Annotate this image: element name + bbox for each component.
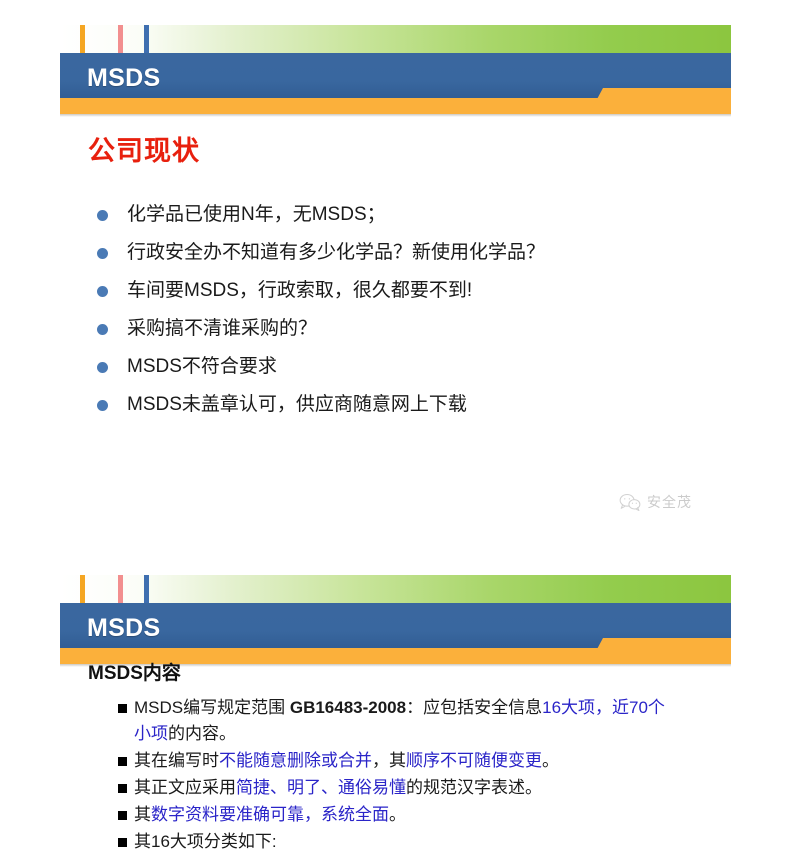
watermark-text: 安全茂	[647, 492, 692, 512]
text-run: ，其	[372, 751, 406, 770]
text-run: 。	[389, 805, 406, 824]
msds-content-list: MSDS编写规定范围 GB16483-2008：应包括安全信息16大项，近70个…	[118, 695, 673, 856]
square-bullet-icon	[118, 838, 127, 847]
list-item: 其16大项分类如下:	[118, 829, 673, 855]
slide-company-status: MSDS 公司现状 化学品已使用N年，无MSDS；行政安全办不知道有多少化学品？…	[0, 0, 801, 545]
bullet-dot-icon	[97, 324, 108, 335]
list-item: MSDS未盖章认可，供应商随意网上下载	[92, 386, 712, 424]
list-item-label: MSDS未盖章认可，供应商随意网上下载	[127, 394, 467, 415]
list-item: MSDS不符合要求	[92, 348, 712, 386]
accent-tick-blue	[144, 25, 149, 53]
accent-tick-orange	[80, 575, 85, 603]
text-run: 其正文应采用	[134, 778, 236, 797]
list-item: 行政安全办不知道有多少化学品？新使用化学品？	[92, 234, 712, 272]
watermark: 安全茂	[619, 492, 692, 512]
slide-banner: MSDS	[60, 25, 731, 114]
text-run: 不能随意删除或合并	[219, 751, 372, 770]
list-item-label: 行政安全办不知道有多少化学品？新使用化学品？	[127, 242, 545, 263]
square-bullet-icon	[118, 784, 127, 793]
list-item: MSDS编写规定范围 GB16483-2008：应包括安全信息16大项，近70个…	[118, 695, 673, 747]
text-run: 。	[542, 751, 559, 770]
list-item: 化学品已使用N年，无MSDS；	[92, 196, 712, 234]
list-item: 采购搞不清谁采购的？	[92, 310, 712, 348]
content-heading: MSDS内容	[88, 658, 181, 685]
banner-title: MSDS	[87, 57, 160, 99]
text-run: 的内容。	[168, 724, 236, 743]
text-run: 数字资料要准确可靠，系统全面	[151, 805, 389, 824]
square-bullet-icon	[118, 757, 127, 766]
banner-title: MSDS	[87, 607, 160, 649]
presentation-page: MSDS 公司现状 化学品已使用N年，无MSDS；行政安全办不知道有多少化学品？…	[0, 0, 801, 858]
banner-green-gradient	[60, 575, 731, 603]
text-run: 简捷、明了、通俗易懂	[236, 778, 406, 797]
bullet-dot-icon	[97, 400, 108, 411]
company-status-bullet-list: 化学品已使用N年，无MSDS；行政安全办不知道有多少化学品？新使用化学品？车间要…	[92, 196, 712, 424]
accent-tick-orange	[80, 25, 85, 53]
text-run: 顺序不可随便变更	[406, 751, 542, 770]
text-run: 其	[134, 805, 151, 824]
text-run: 其16大项分类如下:	[134, 832, 277, 851]
banner-orange-notch	[589, 638, 731, 664]
bullet-dot-icon	[97, 286, 108, 297]
bullet-dot-icon	[97, 362, 108, 373]
text-run: ：应包括安全信息	[406, 698, 542, 717]
list-item: 车间要MSDS，行政索取，很久都要不到!	[92, 272, 712, 310]
accent-tick-blue	[144, 575, 149, 603]
text-run: MSDS编写规定范围	[134, 698, 290, 717]
text-run: 其在编写时	[134, 751, 219, 770]
page-title: 公司现状	[88, 129, 200, 168]
accent-tick-pink	[118, 575, 123, 603]
list-item: 其正文应采用简捷、明了、通俗易懂的规范汉字表述。	[118, 775, 673, 801]
banner-shadow	[60, 114, 731, 117]
bullet-dot-icon	[97, 248, 108, 259]
list-item-label: MSDS不符合要求	[127, 356, 277, 377]
list-item: 其数字资料要准确可靠，系统全面。	[118, 802, 673, 828]
list-item: 其在编写时不能随意删除或合并，其顺序不可随便变更。	[118, 748, 673, 774]
square-bullet-icon	[118, 811, 127, 820]
square-bullet-icon	[118, 704, 127, 713]
list-item-label: 车间要MSDS，行政索取，很久都要不到!	[127, 280, 472, 301]
list-item-label: 采购搞不清谁采购的？	[127, 318, 317, 339]
wechat-icon	[619, 493, 641, 512]
banner-green-gradient	[60, 25, 731, 53]
list-item-label: 化学品已使用N年，无MSDS；	[127, 204, 386, 225]
banner-orange-notch	[589, 88, 731, 114]
text-run: 的规范汉字表述。	[406, 778, 542, 797]
slide-banner: MSDS	[60, 575, 731, 664]
bullet-dot-icon	[97, 210, 108, 221]
accent-tick-pink	[118, 25, 123, 53]
text-run: GB16483-2008	[290, 698, 406, 717]
